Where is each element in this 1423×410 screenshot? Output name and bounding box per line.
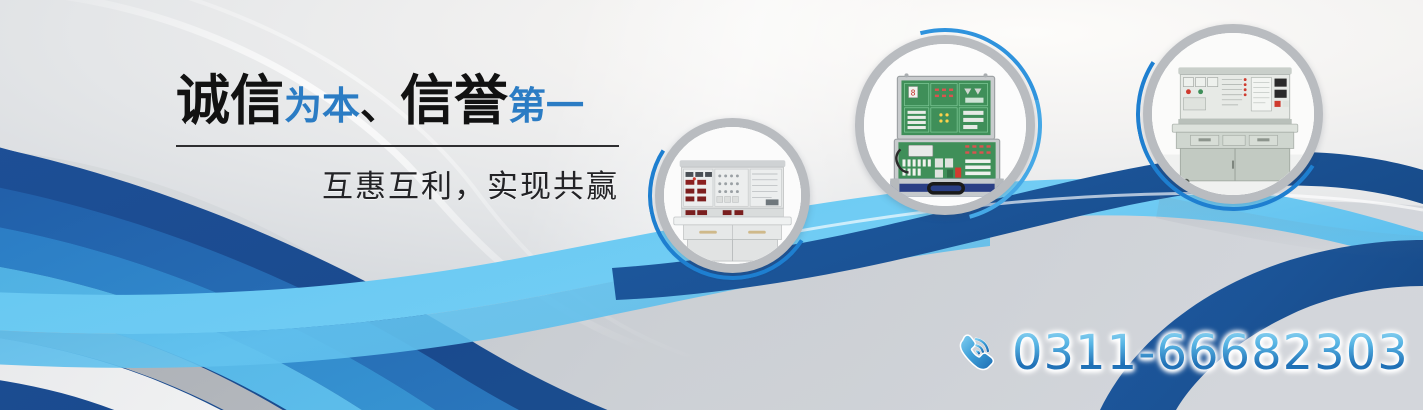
product-circle-1[interactable]	[655, 118, 810, 273]
headline-block: 诚信 为本 、 信誉 第一 互惠互利，实现共赢	[176, 74, 636, 206]
slogan-part-4: 第一	[508, 87, 584, 125]
slogan-main: 诚信 为本 、 信誉 第一	[176, 74, 636, 136]
contact-block[interactable]: 0311-66682303	[952, 325, 1409, 381]
headline-divider	[176, 145, 619, 147]
slogan-part-2: 为本	[284, 87, 360, 125]
slogan-part-3: 信誉	[400, 74, 508, 128]
slogan-comma: 、	[360, 86, 400, 126]
workbench-green-icon	[1152, 33, 1314, 195]
suitcase-trainer-icon: 8	[864, 44, 1026, 206]
slogan-subtitle: 互惠互利，实现共赢	[176, 161, 619, 206]
svg-text:8: 8	[911, 88, 916, 98]
product-circle-3[interactable]	[1143, 24, 1323, 204]
slogan-part-1: 诚信	[176, 74, 284, 128]
promo-banner: 诚信 为本 、 信誉 第一 互惠互利，实现共赢	[0, 0, 1423, 410]
workbench-white-icon	[664, 127, 801, 264]
product-circle-2[interactable]: 8	[855, 35, 1035, 215]
phone-call-icon[interactable]	[952, 330, 998, 376]
phone-number[interactable]: 0311-66682303	[1012, 325, 1409, 381]
